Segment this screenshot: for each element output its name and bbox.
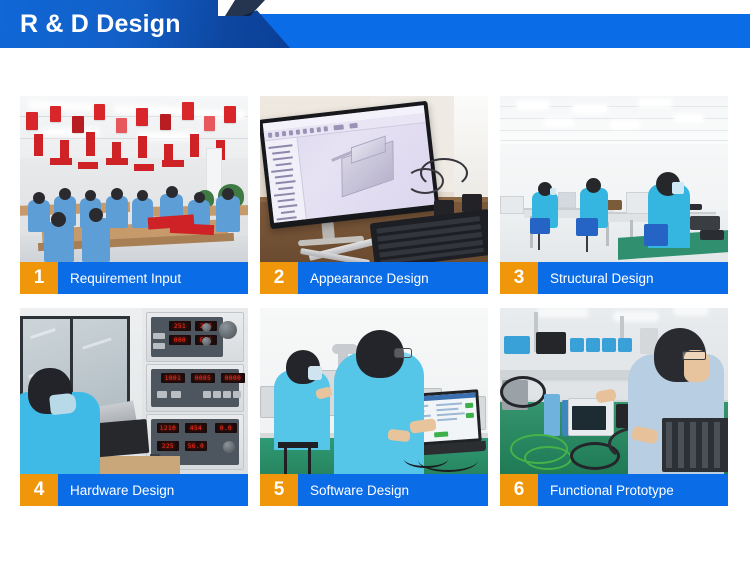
led-readout: 1001 bbox=[161, 373, 185, 383]
controller-stack bbox=[662, 418, 728, 472]
photo-prototype-assembly-bench bbox=[500, 308, 728, 474]
caption-bar-3: 3 Structural Design bbox=[500, 262, 728, 294]
step-number-4: 4 bbox=[20, 474, 58, 506]
led-readout: 56.0 bbox=[185, 441, 207, 451]
caption-bar-1: 1 Requirement Input bbox=[20, 262, 248, 294]
caption-bar-5: 5 Software Design bbox=[260, 474, 488, 506]
step-card-4[interactable]: 251 206 000 EPC 1001 0005 00 bbox=[20, 308, 248, 506]
steps-row-bottom: 251 206 000 EPC 1001 0005 00 bbox=[20, 308, 730, 506]
page-title: R & D Design bbox=[20, 0, 181, 48]
step-label-6: Functional Prototype bbox=[538, 474, 728, 506]
photo-cad-monitor-on-desk bbox=[260, 96, 488, 262]
step-label-3: Structural Design bbox=[538, 262, 728, 294]
caption-bar-6: 6 Functional Prototype bbox=[500, 474, 728, 506]
steps-row-top: 1 Requirement Input bbox=[20, 96, 730, 294]
step-number-1: 1 bbox=[20, 262, 58, 294]
step-card-5[interactable]: 5 Software Design bbox=[260, 308, 488, 506]
led-readout: 225 bbox=[157, 441, 179, 451]
instrument-rack: 251 206 000 EPC 1001 0005 00 bbox=[142, 308, 248, 474]
led-readout: 1210 bbox=[157, 423, 179, 433]
page-header: R & D Design bbox=[0, 0, 750, 48]
step-number-6: 6 bbox=[500, 474, 538, 506]
step-label-1: Requirement Input bbox=[58, 262, 248, 294]
led-readout: 0000 bbox=[221, 373, 245, 383]
step-label-2: Appearance Design bbox=[298, 262, 488, 294]
step-label-5: Software Design bbox=[298, 474, 488, 506]
step-number-3: 3 bbox=[500, 262, 538, 294]
step-number-2: 2 bbox=[260, 262, 298, 294]
led-readout: 251 bbox=[169, 321, 191, 331]
caption-bar-4: 4 Hardware Design bbox=[20, 474, 248, 506]
step-label-4: Hardware Design bbox=[58, 474, 248, 506]
led-readout: 454 bbox=[185, 423, 207, 433]
step-card-6[interactable]: 6 Functional Prototype bbox=[500, 308, 728, 506]
photo-meeting-room-with-red-flags bbox=[20, 96, 248, 262]
caption-bar-2: 2 Appearance Design bbox=[260, 262, 488, 294]
steps-grid: 1 Requirement Input bbox=[20, 96, 730, 520]
step-number-5: 5 bbox=[260, 474, 298, 506]
step-card-3[interactable]: 3 Structural Design bbox=[500, 96, 728, 294]
step-card-2[interactable]: 2 Appearance Design bbox=[260, 96, 488, 294]
led-readout: 000 bbox=[169, 335, 191, 345]
cad-monitor bbox=[260, 101, 440, 230]
photo-clean-lab-workbenches bbox=[500, 96, 728, 262]
photo-engineers-with-laptop bbox=[260, 308, 488, 474]
led-readout: 0005 bbox=[191, 373, 215, 383]
led-readout: 0.0 bbox=[215, 423, 237, 433]
photo-instrument-rack-with-led-displays: 251 206 000 EPC 1001 0005 00 bbox=[20, 308, 248, 474]
step-card-1[interactable]: 1 Requirement Input bbox=[20, 96, 248, 294]
